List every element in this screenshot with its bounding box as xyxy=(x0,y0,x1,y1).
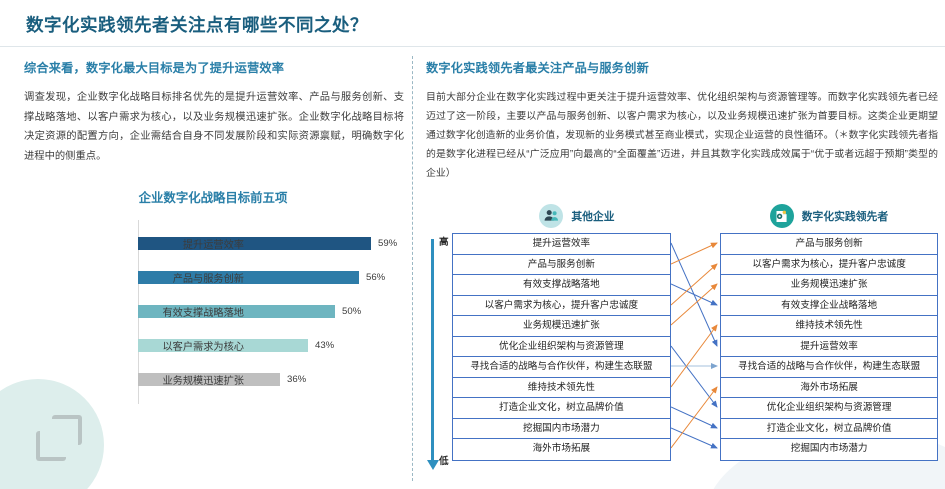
list-item[interactable]: 寻找合适的战略与合作伙伴，构建生态联盟 xyxy=(721,357,937,378)
axis-high-label: 高 xyxy=(439,234,449,248)
bar-value-label: 50% xyxy=(342,306,361,317)
bar-value-label: 43% xyxy=(315,340,334,351)
bar-row: 提升运营效率 59% xyxy=(138,226,402,260)
list-item[interactable]: 寻找合适的战略与合作伙伴，构建生态联盟 xyxy=(453,357,671,378)
connector-arrows xyxy=(671,233,720,461)
priority-axis-arrow-icon xyxy=(431,239,434,461)
digital-leaders-list: 产品与服务创新 以客户需求为核心，提升客户忠诚度 业务规模迅速扩张 有效支撑企业… xyxy=(720,233,938,461)
bar-value-label: 56% xyxy=(366,272,385,283)
list-item[interactable]: 优化企业组织架构与资源管理 xyxy=(721,398,937,419)
bar-category-label: 业务规模迅速扩张 xyxy=(138,372,244,387)
column-divider xyxy=(412,56,413,481)
list-item[interactable]: 打造企业文化，树立品牌价值 xyxy=(721,419,937,440)
list-item[interactable]: 维持技术领先性 xyxy=(453,378,671,399)
list-item[interactable]: 业务规模迅速扩张 xyxy=(721,275,937,296)
comparison-header-leader: 数字化实践领先者 xyxy=(720,201,938,231)
bar-value-label: 59% xyxy=(378,238,397,249)
list-item[interactable]: 海外市场拓展 xyxy=(721,378,937,399)
list-item[interactable]: 提升运营效率 xyxy=(453,234,671,255)
list-item[interactable]: 挖掘国内市场潜力 xyxy=(721,439,937,460)
list-item[interactable]: 业务规模迅速扩张 xyxy=(453,316,671,337)
bar-row: 产品与服务创新 56% xyxy=(138,260,402,294)
slide-canvas: 数字化实践领先者关注点有哪些不同之处？ 综合来看，数字化最大目标是为了提升运营效… xyxy=(0,0,945,489)
comparison-header-label: 其他企业 xyxy=(571,208,614,224)
left-column: 综合来看，数字化最大目标是为了提升运营效率 调查发现，企业数字化战略目标排名优先… xyxy=(24,58,404,478)
chart-title: 企业数字化战略目标前五项 xyxy=(24,188,402,206)
other-enterprises-list: 提升运营效率 产品与服务创新 有效支撑战略落地 以客户需求为核心，提升客户忠诚度… xyxy=(452,233,672,461)
list-item[interactable]: 产品与服务创新 xyxy=(453,255,671,276)
priority-axis: 高 低 xyxy=(426,233,452,461)
list-item[interactable]: 产品与服务创新 xyxy=(721,234,937,255)
left-paragraph: 调查发现，企业数字化战略目标排名优先的是提升运营效率、产品与服务创新、支撑战略落… xyxy=(24,88,404,166)
axis-low-label: 低 xyxy=(439,453,449,467)
bar-row: 有效支撑战略落地 50% xyxy=(138,294,402,328)
comparison-header-other: 其他企业 xyxy=(454,201,700,231)
list-item[interactable]: 以客户需求为核心，提升客户忠诚度 xyxy=(453,296,671,317)
bar-category-label: 提升运营效率 xyxy=(138,236,244,251)
header-divider xyxy=(0,46,945,47)
chart-plot-area: 提升运营效率 59% 产品与服务创新 56% 有效支撑战略落地 50% 以客户需… xyxy=(24,220,402,404)
bar-row: 业务规模迅速扩张 36% xyxy=(138,362,402,396)
bar-category-label: 以客户需求为核心 xyxy=(138,338,244,353)
users-group-icon xyxy=(539,204,563,228)
bar-category-label: 产品与服务创新 xyxy=(138,270,244,285)
list-item[interactable]: 维持技术领先性 xyxy=(721,316,937,337)
right-paragraph: 目前大部分企业在数字化实践过程中更关注于提升运营效率、优化组织架构与资源管理等。… xyxy=(426,88,938,183)
list-item[interactable]: 海外市场拓展 xyxy=(453,439,671,460)
list-item[interactable]: 有效支撑战略落地 xyxy=(453,275,671,296)
connector-arrow-set xyxy=(671,233,721,463)
bar-value-label: 36% xyxy=(287,374,306,385)
page-title: 数字化实践领先者关注点有哪些不同之处？ xyxy=(26,12,368,37)
leader-gear-icon xyxy=(770,204,794,228)
list-item[interactable]: 有效支撑企业战略落地 xyxy=(721,296,937,317)
right-subtitle: 数字化实践领先者最关注产品与服务创新 xyxy=(426,58,938,76)
list-item[interactable]: 优化企业组织架构与资源管理 xyxy=(453,337,671,358)
list-item[interactable]: 打造企业文化，树立品牌价值 xyxy=(453,398,671,419)
bar-row: 以客户需求为核心 43% xyxy=(138,328,402,362)
bar-chart: 企业数字化战略目标前五项 提升运营效率 59% 产品与服务创新 56% 有效支撑… xyxy=(24,188,402,404)
list-item[interactable]: 挖掘国内市场潜力 xyxy=(453,419,671,440)
list-item[interactable]: 提升运营效率 xyxy=(721,337,937,358)
left-subtitle: 综合来看，数字化最大目标是为了提升运营效率 xyxy=(24,58,404,76)
comparison-body: 高 低 提升运营效率 产品与服务创新 有效支撑战略落地 以客户需求为核心，提升客… xyxy=(426,233,938,461)
right-column: 数字化实践领先者最关注产品与服务创新 目前大部分企业在数字化实践过程中更关注于提… xyxy=(426,58,938,483)
comparison-headers: 其他企业 数字化实践领先者 xyxy=(426,201,938,231)
bar-category-label: 有效支撑战略落地 xyxy=(138,304,244,319)
list-item[interactable]: 以客户需求为核心，提升客户忠诚度 xyxy=(721,255,937,276)
comparison-header-label: 数字化实践领先者 xyxy=(802,208,888,224)
